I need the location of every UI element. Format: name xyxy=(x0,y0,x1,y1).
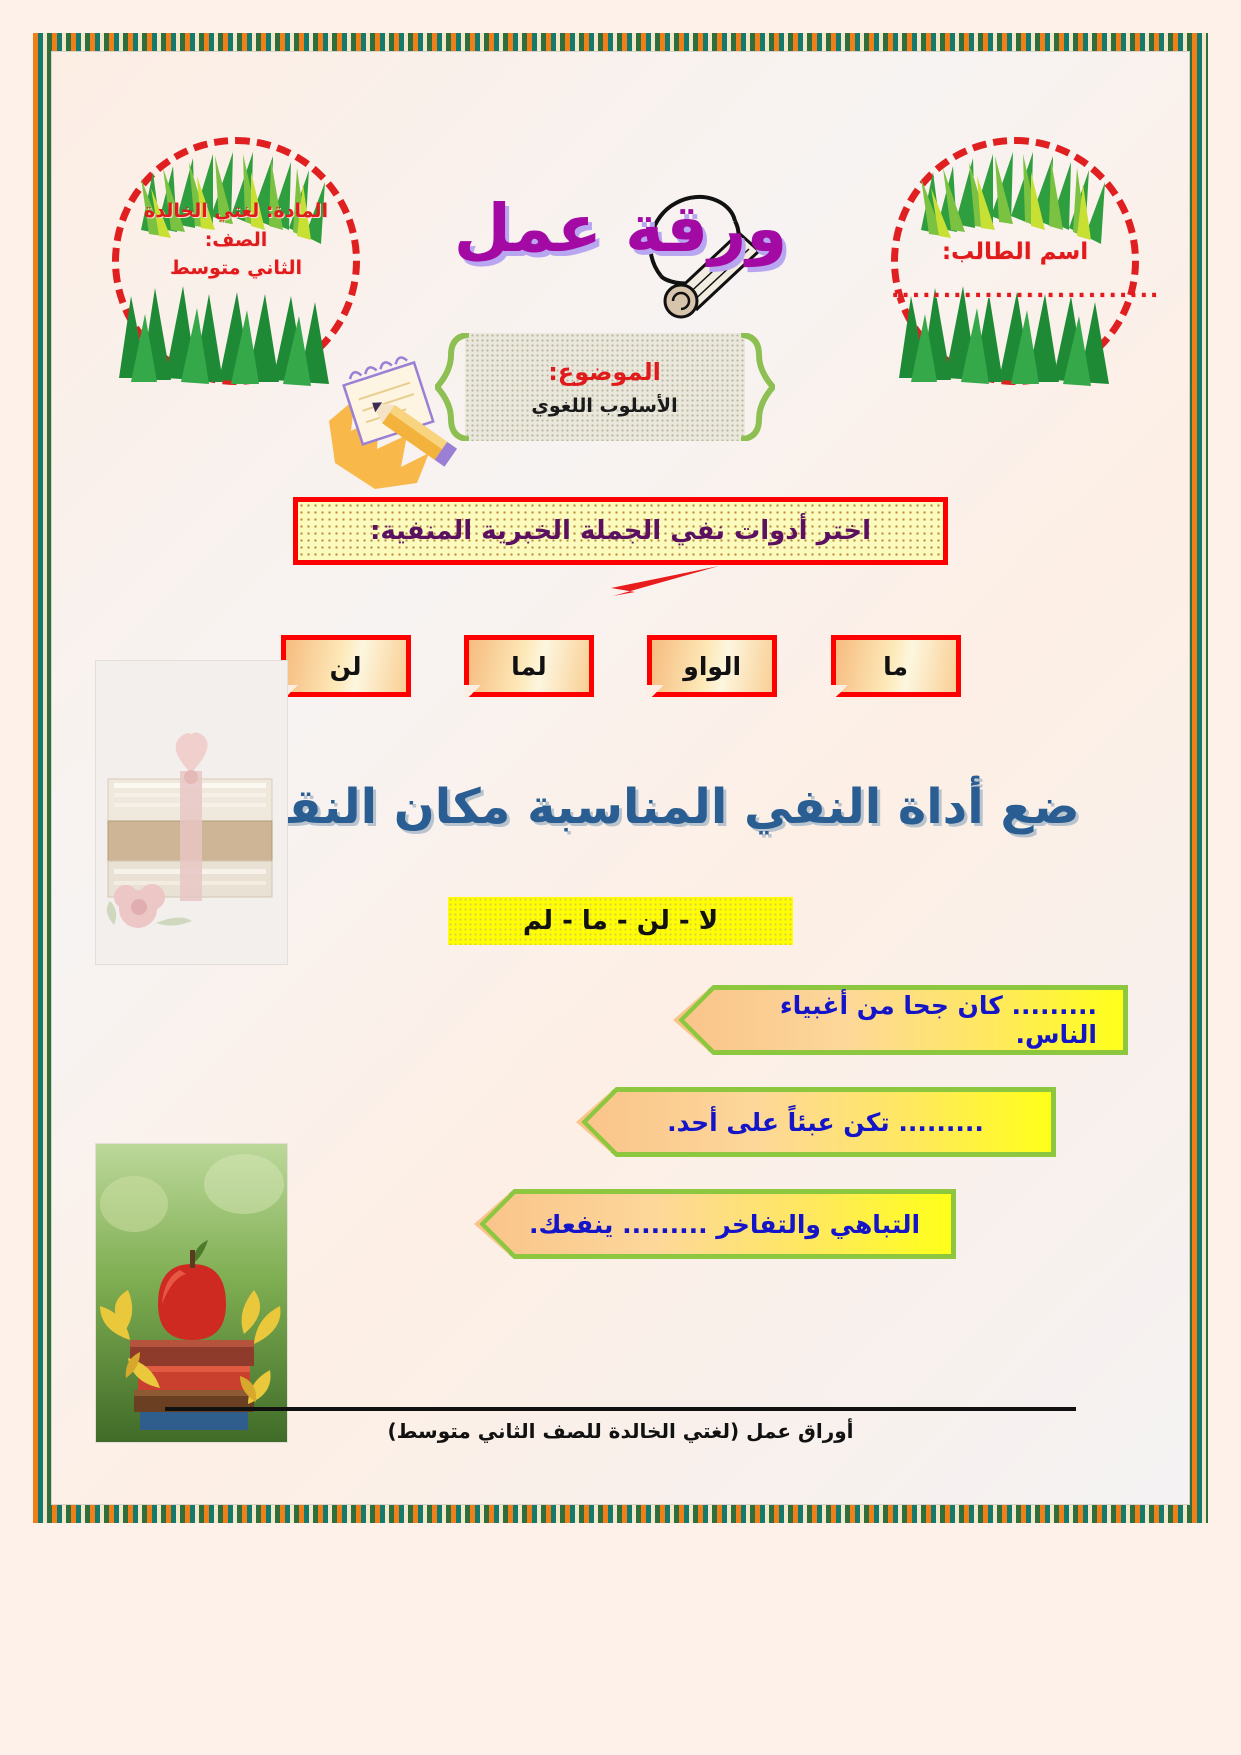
arrow-tip-icon xyxy=(673,985,719,1055)
subject-label: الموضوع: xyxy=(548,357,661,388)
option-card-1[interactable]: ما xyxy=(831,635,961,697)
sentence-arrow-2[interactable]: ......... تكن عبئاً على أحد. xyxy=(576,1087,1056,1157)
arrow-tip-icon xyxy=(474,1189,520,1259)
sentence-arrow-3[interactable]: التباهي والتفاخر ......... ينفعك. xyxy=(474,1189,956,1259)
worksheet-content: المادة: لغتي الخالدة الصف: الثاني متوسط xyxy=(85,85,1156,1471)
student-name-field[interactable]: اسم الطالب: .......................... xyxy=(891,235,1139,307)
option-label: لن xyxy=(330,652,362,681)
worksheet-page: المادة: لغتي الخالدة الصف: الثاني متوسط xyxy=(33,33,1208,1523)
sentence-text: التباهي والتفاخر ......... ينفعك. xyxy=(529,1210,920,1239)
brace-right-icon xyxy=(741,333,775,441)
footer-text: أوراق عمل (لغتي الخالدة للصف الثاني متوس… xyxy=(165,1419,1076,1443)
exercise2-wordbank: لا - لن - ما - لم xyxy=(448,897,793,945)
sentence-text: ......... تكن عبئاً على أحد. xyxy=(667,1108,984,1137)
option-card-3[interactable]: لما xyxy=(464,635,594,697)
worksheet-header: المادة: لغتي الخالدة الصف: الثاني متوسط xyxy=(85,85,1156,485)
exercise1-instruction-text: اختر أدوات نفي الجملة الخبرية المنفية: xyxy=(370,516,871,546)
option-label: ما xyxy=(883,652,908,681)
student-name-blank[interactable]: .......................... xyxy=(891,274,1139,307)
pencil-notepad-icon xyxy=(321,343,481,493)
subject-box: الموضوع: الأسلوب اللغوي xyxy=(465,333,745,441)
option-card-4[interactable]: لن xyxy=(281,635,411,697)
subject-value: الأسلوب اللغوي xyxy=(531,395,677,417)
material-info: المادة: لغتي الخالدة الصف: الثاني متوسط xyxy=(112,197,360,283)
arrow-tip-icon xyxy=(576,1087,622,1157)
sentence-row: ......... كان جحا من أغبياء الناس. xyxy=(85,985,1156,1055)
exercise1-options: ما الواو لما لن xyxy=(281,635,961,697)
red-arrow-icon xyxy=(601,562,721,608)
stacked-books-photo xyxy=(95,660,288,965)
material-line: المادة: لغتي الخالدة xyxy=(112,197,360,226)
sentence-text: ......... كان جحا من أغبياء الناس. xyxy=(723,991,1097,1049)
option-card-2[interactable]: الواو xyxy=(647,635,777,697)
student-name-label: اسم الطالب: xyxy=(891,235,1139,270)
sentence-arrow-1[interactable]: ......... كان جحا من أغبياء الناس. xyxy=(673,985,1128,1055)
page-footer: أوراق عمل (لغتي الخالدة للصف الثاني متوس… xyxy=(165,1407,1076,1443)
grade-label: الصف: xyxy=(112,226,360,255)
grade-value: الثاني متوسط xyxy=(112,254,360,283)
footer-divider xyxy=(165,1407,1076,1411)
option-label: الواو xyxy=(683,652,741,681)
exercise1-instruction-box: اختر أدوات نفي الجملة الخبرية المنفية: xyxy=(293,497,948,565)
apple-on-books-photo xyxy=(95,1143,288,1443)
option-label: لما xyxy=(511,652,547,681)
